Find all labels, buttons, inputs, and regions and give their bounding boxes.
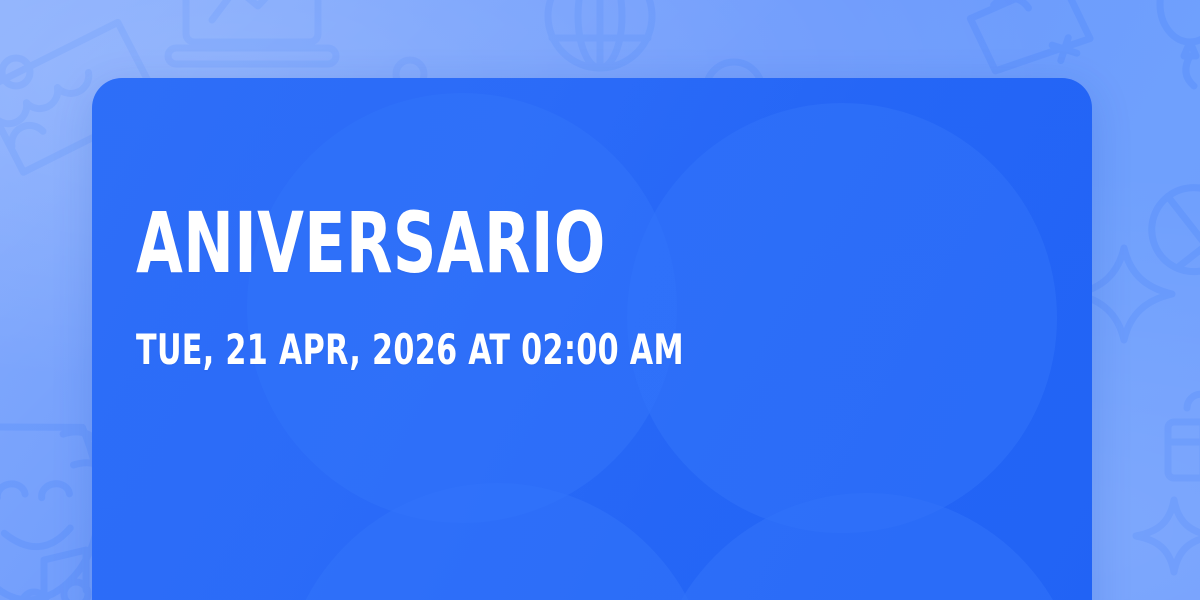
gift-icon xyxy=(1168,394,1200,478)
event-card-page: ANIVERSARIO TUE, 21 APR, 2026 AT 02:00 A… xyxy=(0,0,1200,600)
confetti-ring-icon xyxy=(2,58,30,86)
balloon-icon xyxy=(1160,0,1200,86)
star-burst-icon xyxy=(1136,500,1200,572)
card-content: ANIVERSARIO TUE, 21 APR, 2026 AT 02:00 A… xyxy=(136,78,856,600)
event-title: ANIVERSARIO xyxy=(136,208,712,279)
event-datetime: TUE, 21 APR, 2026 AT 02:00 AM xyxy=(136,329,712,371)
microphone-icon xyxy=(1135,171,1200,322)
globe-icon xyxy=(548,0,652,68)
laptop-presentation-icon xyxy=(168,0,336,64)
music-note-icon xyxy=(22,550,88,600)
event-card[interactable]: ANIVERSARIO TUE, 21 APR, 2026 AT 02:00 A… xyxy=(92,78,1092,600)
